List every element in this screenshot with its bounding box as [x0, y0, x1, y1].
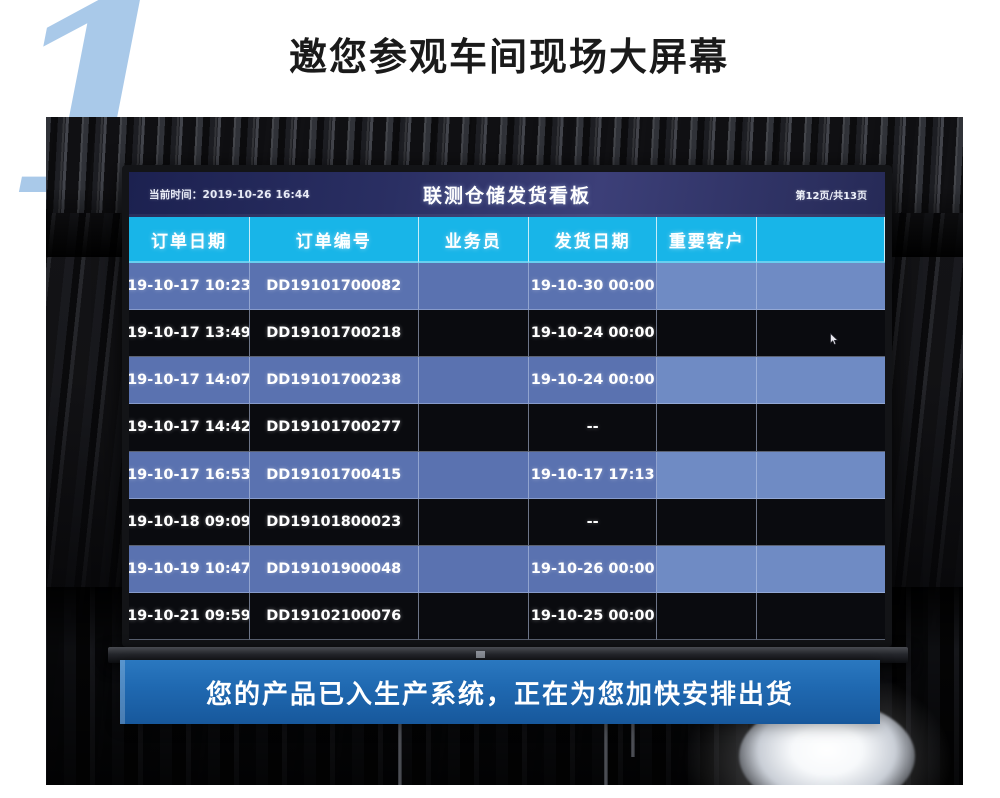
table-row: 19-10-17 16:53 DD19101700415 19-10-17 17…	[129, 452, 885, 499]
dashboard-title: 联测仓储发货看板	[129, 181, 885, 208]
table-row: 19-10-18 09:09 DD19101800023 --	[129, 499, 885, 546]
cell-extra	[757, 310, 885, 357]
cell-key-customer	[657, 499, 757, 546]
promo-banner-text: 您的产品已入生产系统，正在为您加快安排出货	[206, 674, 794, 711]
cell-order-date: 19-10-21 09:59	[129, 593, 250, 640]
cell-key-customer	[657, 452, 757, 499]
cell-salesman	[419, 452, 529, 499]
cell-ship-date: --	[529, 404, 658, 451]
promo-banner: 您的产品已入生产系统，正在为您加快安排出货	[120, 660, 880, 724]
cell-order-date: 19-10-18 09:09	[129, 499, 250, 546]
cell-extra	[757, 357, 885, 404]
cell-ship-date: 19-10-24 00:00	[529, 357, 658, 404]
column-header-ship-date: 发货日期	[529, 217, 658, 263]
cell-key-customer	[657, 357, 757, 404]
cell-ship-date: 19-10-24 00:00	[529, 310, 658, 357]
cell-extra	[757, 404, 885, 451]
cell-order-date: 19-10-17 14:42	[129, 404, 250, 451]
cell-key-customer	[657, 546, 757, 593]
dashboard-screen: 当前时间：2019-10-26 16:44 联测仓储发货看板 第12页/共13页…	[129, 172, 885, 640]
cell-key-customer	[657, 263, 757, 310]
cell-salesman	[419, 546, 529, 593]
cell-salesman	[419, 499, 529, 546]
cell-order-date: 19-10-17 10:23	[129, 263, 250, 310]
dashboard-header: 当前时间：2019-10-26 16:44 联测仓储发货看板 第12页/共13页	[129, 172, 885, 217]
cell-order-no: DD19101700238	[250, 357, 419, 404]
cell-order-no: DD19101800023	[250, 499, 419, 546]
table-row: 19-10-17 13:49 DD19101700218 19-10-24 00…	[129, 310, 885, 357]
column-header-extra	[757, 217, 885, 263]
cell-ship-date: 19-10-26 00:00	[529, 546, 658, 593]
cell-ship-date: 19-10-25 00:00	[529, 593, 658, 640]
table-row: 19-10-17 14:07 DD19101700238 19-10-24 00…	[129, 357, 885, 404]
table-row: 19-10-17 14:42 DD19101700277 --	[129, 404, 885, 451]
column-header-salesman: 业务员	[419, 217, 529, 263]
cell-salesman	[419, 404, 529, 451]
cell-extra	[757, 452, 885, 499]
page-title: 邀您参观车间现场大屏幕	[0, 26, 1000, 81]
table-row: 19-10-21 09:59 DD19102100076 19-10-25 00…	[129, 593, 885, 640]
cell-extra	[757, 593, 885, 640]
cell-order-date: 19-10-17 14:07	[129, 357, 250, 404]
column-header-key-customer: 重要客户	[657, 217, 757, 263]
shipment-table: 订单日期 订单编号 业务员 发货日期 重要客户 19-10-17 10:23 D…	[129, 217, 885, 640]
cell-order-date: 19-10-17 13:49	[129, 310, 250, 357]
cell-order-no: DD19101700415	[250, 452, 419, 499]
cell-salesman	[419, 310, 529, 357]
cell-key-customer	[657, 310, 757, 357]
table-row: 19-10-19 10:47 DD19101900048 19-10-26 00…	[129, 546, 885, 593]
table-header-row: 订单日期 订单编号 业务员 发货日期 重要客户	[129, 217, 885, 263]
wall-mounted-display: 当前时间：2019-10-26 16:44 联测仓储发货看板 第12页/共13页…	[122, 165, 892, 647]
cell-order-no: DD19102100076	[250, 593, 419, 640]
cell-order-no: DD19101700277	[250, 404, 419, 451]
cell-ship-date: 19-10-17 17:13	[529, 452, 658, 499]
cell-order-date: 19-10-17 16:53	[129, 452, 250, 499]
cell-salesman	[419, 593, 529, 640]
cell-order-date: 19-10-19 10:47	[129, 546, 250, 593]
cell-extra	[757, 546, 885, 593]
cell-extra	[757, 263, 885, 310]
cell-salesman	[419, 357, 529, 404]
cell-salesman	[419, 263, 529, 310]
cell-key-customer	[657, 593, 757, 640]
column-header-order-date: 订单日期	[129, 217, 250, 263]
cell-key-customer	[657, 404, 757, 451]
cell-ship-date: --	[529, 499, 658, 546]
cell-extra	[757, 499, 885, 546]
table-row: 19-10-17 10:23 DD19101700082 19-10-30 00…	[129, 263, 885, 310]
cell-order-no: DD19101700218	[250, 310, 419, 357]
mouse-cursor-icon	[830, 333, 839, 346]
cell-order-no: DD19101900048	[250, 546, 419, 593]
cell-order-no: DD19101700082	[250, 263, 419, 310]
column-header-order-no: 订单编号	[250, 217, 419, 263]
cell-ship-date: 19-10-30 00:00	[529, 263, 658, 310]
